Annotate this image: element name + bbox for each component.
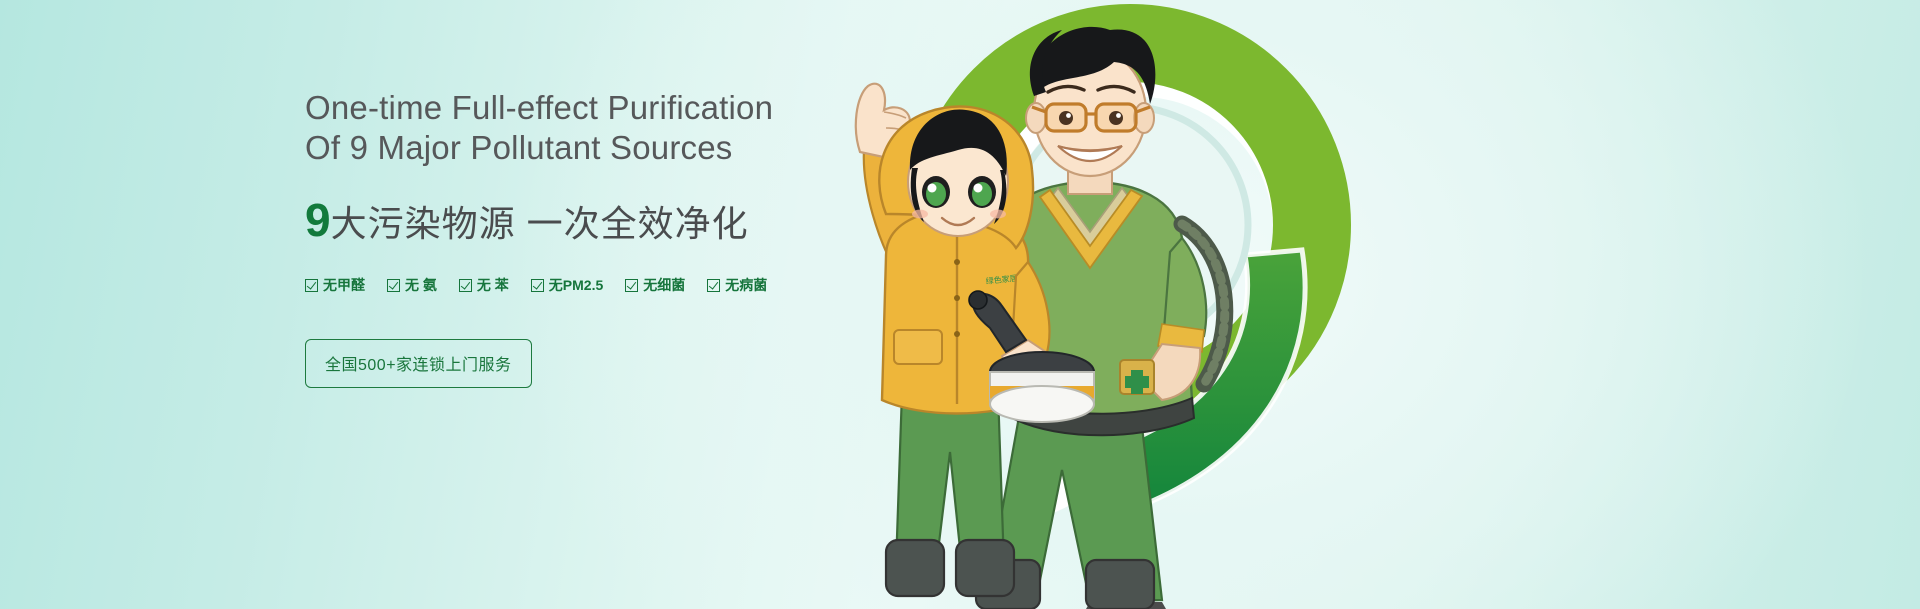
feature-badge: 无 苯 xyxy=(459,275,509,295)
checkbox-checked-icon xyxy=(531,279,544,292)
feature-badge: 无甲醛 xyxy=(305,275,365,295)
feature-badge: 无细菌 xyxy=(625,275,685,295)
checkbox-checked-icon xyxy=(459,279,472,292)
feature-badge-label: 无 氨 xyxy=(405,275,437,295)
hero-illustration: 绿色家居 xyxy=(790,0,1410,609)
feature-badge-label: 无PM2.5 xyxy=(549,275,603,295)
chinese-headline-text: 大污染物源 一次全效净化 xyxy=(331,206,749,242)
checkbox-checked-icon xyxy=(707,279,720,292)
feature-badge: 无PM2.5 xyxy=(531,275,603,295)
feature-badge-label: 无病菌 xyxy=(725,275,767,295)
feature-badge: 无病菌 xyxy=(707,275,767,295)
feature-badge-label: 无甲醛 xyxy=(323,275,365,295)
feature-badge-label: 无 苯 xyxy=(477,275,509,295)
nationwide-service-button[interactable]: 全国500+家连锁上门服务 xyxy=(305,339,532,388)
checkbox-checked-icon xyxy=(305,279,318,292)
chinese-headline-number: 9 xyxy=(305,197,330,243)
promo-banner: One-time Full-effect Purification Of 9 M… xyxy=(0,0,1920,609)
feature-badge-label: 无细菌 xyxy=(643,275,685,295)
feature-badge: 无 氨 xyxy=(387,275,437,295)
checkbox-checked-icon xyxy=(625,279,638,292)
checkbox-checked-icon xyxy=(387,279,400,292)
